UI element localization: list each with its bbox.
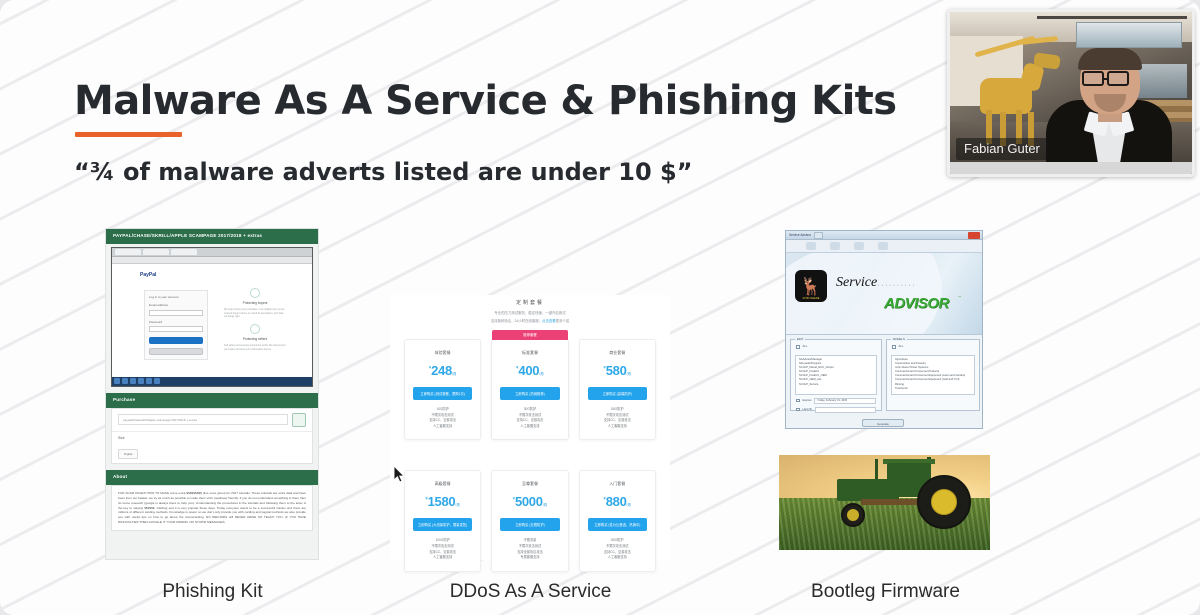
figure-ddos-pricing-screenshot: 定制套餐 专业的压力测试服务，稳定快速，一键开启测试 支持各种协议，24小时在线… <box>390 295 670 560</box>
taskbar-icon <box>138 378 144 384</box>
feature-item: 人工客服支持 <box>411 555 474 561</box>
presentation-slide: Malware As A Service & Phishing Kits “¾ … <box>0 0 1200 615</box>
more-info-link[interactable]: 点击查看 <box>542 319 556 323</box>
title-accent-bar <box>75 132 182 137</box>
phishing-page-browser-screenshot: PayPal Log in to your account Email addr… <box>111 247 313 387</box>
list-item[interactable]: SCULP_Service <box>799 383 873 387</box>
tractor-hood <box>837 479 899 501</box>
pricing-card[interactable]: 入门套餐 ¥880/月 立即购买 (性价比首选，热销中) 80G防护 不限次攻击… <box>579 470 656 571</box>
browser-tab <box>171 249 197 255</box>
banner-dots-decoration: • • • • • • • • • • <box>878 283 915 287</box>
windows-taskbar <box>112 377 312 386</box>
hard-id-row[interactable]: Hard ID <box>796 407 881 413</box>
paypal-logo: PayPal <box>140 272 156 280</box>
figure-service-advisor-screenshot: Service Advisor 🦌 JOHN DEERE Service • •… <box>785 230 983 429</box>
expires-label: Expires <box>803 399 812 402</box>
subheading-text-tail: 更多介绍 <box>556 319 570 323</box>
edit-fieldset: EDIT ALL SAAdvisorManager SALoaderProgra… <box>790 339 882 411</box>
feature-item: 人工客服支持 <box>498 424 561 430</box>
expires-date-field[interactable]: Friday, February 13, 2015 <box>814 398 876 404</box>
pricing-card[interactable]: 高级套餐 ¥1580/月 立即购买 (大流量防护，限量发售) 100G防护 不限… <box>404 470 481 571</box>
taskbar-icon <box>114 378 120 384</box>
shield-icon <box>250 288 260 298</box>
about-description: FUD SCAM PAGES HOW TO MAKE some extra $$… <box>111 485 313 530</box>
purchase-panel: paypal/chase/skrill/apple scampage 2017/… <box>111 408 313 465</box>
tractor-axle <box>861 499 923 505</box>
size-label: Size <box>118 436 306 441</box>
protect-sellers-body: Sell safely and securely around the worl… <box>224 344 286 352</box>
price-value: 400 <box>518 363 539 378</box>
login-heading: Log in to your account <box>149 295 207 300</box>
purchase-section-header: Purchase <box>106 393 318 408</box>
window-titlebar: Service Advisor <box>786 231 982 240</box>
email-label: Email address <box>149 303 207 308</box>
models-fieldset: MODELS ALL Agriculture Construction and … <box>886 339 980 411</box>
plan-price: ¥880/月 <box>586 493 649 511</box>
price-unit: /月 <box>455 503 460 507</box>
plan-name: 商业套餐 <box>586 350 649 356</box>
plan-price: ¥580/月 <box>586 362 649 380</box>
person-hair <box>1078 48 1142 70</box>
price-unit: /月 <box>627 372 632 376</box>
purchase-item-name: paypal/chase/skrill/apple scampage 2017/… <box>118 414 288 425</box>
toolbar-icon[interactable] <box>854 242 864 250</box>
caption-phishing-kit: Phishing Kit <box>90 581 335 603</box>
lock-icon <box>250 324 260 334</box>
price-value: 580 <box>606 363 627 378</box>
tractor-rear-hub <box>931 489 957 515</box>
plan-features: 50G防护 不限次攻击测试 支持CC、空载攻击 人工客服支持 <box>586 407 649 429</box>
password-label: Password <box>149 320 207 325</box>
signup-button[interactable] <box>149 348 203 355</box>
browser-chrome <box>112 248 312 257</box>
price-value: 5000 <box>515 494 543 509</box>
feature-item: 人工客服支持 <box>586 555 649 561</box>
close-button[interactable] <box>968 232 980 239</box>
edit-module-list[interactable]: SAAdvisorManager SALoaderProgram SCULP_D… <box>795 355 877 395</box>
protect-sellers-heading: Protecting sellers <box>224 337 286 342</box>
taskbar-icon <box>130 378 136 384</box>
password-field[interactable] <box>149 326 203 332</box>
pricing-header: 定制套餐 专业的压力测试服务，稳定快速，一键开启测试 支持各种协议，24小时在线… <box>390 295 670 323</box>
buy-button[interactable]: 立即购买 (大流量防护，限量发售) <box>413 518 472 531</box>
price-unit: /月 <box>539 372 544 376</box>
caption-bootleg-firmware: Bootleg Firmware <box>758 581 1013 603</box>
price-value: 880 <box>606 494 627 509</box>
plan-name: 高级套餐 <box>411 481 474 487</box>
john-deere-logo: 🦌 JOHN DEERE <box>795 270 827 302</box>
select-all-right[interactable]: ALL <box>892 345 979 349</box>
list-item[interactable]: Tractorech <box>895 387 971 391</box>
price-unit: /月 <box>452 372 457 376</box>
feature-item: 专属客服支持 <box>498 555 561 561</box>
license-generator-form: EDIT ALL SAAdvisorManager SALoaderProgra… <box>786 335 982 429</box>
glass-wall <box>1076 22 1182 48</box>
page-title: Malware As A Service & Phishing Kits <box>74 78 896 124</box>
pricing-row-2: 高级套餐 ¥1580/月 立即购买 (大流量防护，限量发售) 100G防护 不限… <box>390 460 670 571</box>
tractor-front-hub <box>847 509 859 521</box>
browser-tab <box>143 249 169 255</box>
plan-price: ¥1580/月 <box>411 493 474 511</box>
eyeglasses-right-lens <box>1107 71 1129 86</box>
plan-features: 80G防护 不限次攻击测试 支持CC、空载攻击 人工客服支持 <box>586 538 649 560</box>
login-button[interactable] <box>149 337 203 344</box>
select-all-label: ALL <box>803 345 808 348</box>
models-list[interactable]: Agriculture Construction and Forestry Jo… <box>891 355 975 395</box>
plan-name: 标准套餐 <box>498 350 561 356</box>
purchase-row: paypal/chase/skrill/apple scampage 2017/… <box>112 409 312 431</box>
trademark-symbol: ™ <box>958 295 961 299</box>
buy-button[interactable]: 立即购买 (高端防护) <box>588 387 647 400</box>
select-all-label: ALL <box>899 345 904 348</box>
protection-info: Protecting buyers We help protect your p… <box>224 288 286 352</box>
webcam-video-tile[interactable]: Fabian Guter <box>947 9 1195 177</box>
login-card: Log in to your account Email address Pas… <box>144 290 208 360</box>
plan-features: 30G防护 不限次攻击测试 支持CC、空载攻击 人工客服支持 <box>498 407 561 429</box>
participant-name-label: Fabian Guter <box>956 138 1048 160</box>
plan-name: 体验套餐 <box>411 350 474 356</box>
plan-price: ¥248/月 <box>411 362 474 380</box>
size-value[interactable]: Digital <box>118 449 138 460</box>
feature-item: 人工客服支持 <box>411 424 474 430</box>
hard-id-label: Hard ID <box>803 408 812 411</box>
cart-icon[interactable] <box>292 413 306 427</box>
browser-tab <box>115 249 141 255</box>
checkbox-icon[interactable] <box>892 345 896 349</box>
toolbar <box>786 240 982 253</box>
models-group-label: MODELS <box>891 337 907 341</box>
size-value-row: Digital <box>112 445 312 464</box>
eyeglasses-bridge <box>1103 78 1109 80</box>
buy-button[interactable]: 立即购买 (热销推荐) <box>500 387 559 400</box>
video-background-scene: Fabian Guter <box>950 12 1192 174</box>
video-bottom-bar <box>950 162 1192 174</box>
figure-phishing-kit-screenshot: PAYPAL/CHASE/SKRILL/APPLE SCAMPAGE 2017/… <box>105 228 319 560</box>
checkbox-icon[interactable] <box>796 408 800 412</box>
plan-price: ¥400/月 <box>498 362 561 380</box>
price-value: 248 <box>431 363 452 378</box>
toolbar-icon[interactable] <box>806 242 816 250</box>
phishing-page-body: PayPal Log in to your account Email addr… <box>112 264 312 377</box>
caption-ddos-as-a-service: DDoS As A Service <box>408 581 653 603</box>
listing-title: PAYPAL/CHASE/SKRILL/APPLE SCAMPAGE 2017/… <box>106 229 318 244</box>
subheading-text: 支持各种协议，24小时在线客服， <box>491 319 542 323</box>
generate-button[interactable]: Generate <box>862 419 904 427</box>
checkbox-icon[interactable] <box>796 399 800 403</box>
pricing-card[interactable]: 体验套餐 ¥248/月 立即购买 (测试套餐，限购1次) 10G防护 不限次攻击… <box>404 339 481 440</box>
hard-id-field[interactable] <box>815 407 876 413</box>
email-field[interactable] <box>149 310 203 316</box>
browser-address-bar <box>112 257 312 264</box>
pricing-card[interactable]: 商业套餐 ¥580/月 立即购买 (高端防护) 50G防护 不限次攻击测试 支持… <box>579 339 656 440</box>
pricing-card[interactable]: 至尊套餐 ¥5000/月 立即购买 (无限防护) 不限流量 不限次攻击测试 支持… <box>491 470 568 571</box>
checkbox-icon[interactable] <box>796 345 800 349</box>
deer-icon: 🦌 <box>800 278 821 295</box>
eyeglasses-left-lens <box>1082 71 1104 86</box>
protect-buyers-heading: Protecting buyers <box>224 301 286 306</box>
buy-button[interactable]: 立即购买 (性价比首选，热销中) <box>588 518 647 531</box>
brand-advisor-text: ADVISOR <box>884 295 949 312</box>
plan-name: 至尊套餐 <box>498 481 561 487</box>
buy-button[interactable]: 立即购买 (测试套餐，限购1次) <box>413 387 472 400</box>
pricing-card-featured[interactable]: 推荐套餐 标准套餐 ¥400/月 立即购买 (热销推荐) 30G防护 不限次攻击… <box>491 339 568 440</box>
plan-price: ¥5000/月 <box>498 493 561 511</box>
service-advisor-banner: 🦌 JOHN DEERE Service • • • • • • • • • •… <box>786 253 982 335</box>
pricing-row-1: 体验套餐 ¥248/月 立即购买 (测试套餐，限购1次) 10G防护 不限次攻击… <box>390 329 670 440</box>
taskbar-icon <box>122 378 128 384</box>
mouse-cursor <box>394 466 406 484</box>
taskbar-icon <box>154 378 160 384</box>
edit-group-label: EDIT <box>795 337 805 341</box>
expires-row[interactable]: Expires Friday, February 13, 2015 <box>796 398 881 404</box>
plan-features: 不限流量 不限次攻击测试 支持全部协议攻击 专属客服支持 <box>498 538 561 560</box>
minimize-button[interactable] <box>814 232 823 239</box>
john-deere-wordmark: JOHN DEERE <box>795 297 827 300</box>
toolbar-icon[interactable] <box>830 242 840 250</box>
taskbar-icon <box>146 378 152 384</box>
slide-subtitle: “¾ of malware adverts listed are under 1… <box>74 158 693 186</box>
price-unit: /月 <box>543 503 548 507</box>
price-unit: /月 <box>627 503 632 507</box>
pricing-subheading-1: 专业的压力测试服务，稳定快速，一键开启测试 <box>390 310 670 315</box>
pricing-heading: 定制套餐 <box>390 299 670 306</box>
about-section-header: About <box>106 470 318 485</box>
pricing-subheading-2: 支持各种协议，24小时在线客服，点击查看更多介绍 <box>390 318 670 323</box>
railing <box>1037 16 1187 19</box>
price-value: 1580 <box>428 494 456 509</box>
plan-features: 10G防护 不限次攻击测试 支持CC、空载攻击 人工客服支持 <box>411 407 474 429</box>
brand-service-text: Service <box>836 275 877 291</box>
window-title: Service Advisor <box>789 233 811 237</box>
protect-buyers-body: We help protect your purchases. If an el… <box>224 308 286 320</box>
tractor-photo <box>779 455 990 550</box>
plan-name: 入门套餐 <box>586 481 649 487</box>
select-all-left[interactable]: ALL <box>796 345 881 349</box>
feature-item: 人工客服支持 <box>586 424 649 430</box>
buy-button[interactable]: 立即购买 (无限防护) <box>500 518 559 531</box>
plan-features: 100G防护 不限次攻击测试 支持CC、空载攻击 人工客服支持 <box>411 538 474 560</box>
size-row: Size <box>112 432 312 445</box>
toolbar-icon[interactable] <box>878 242 888 250</box>
recommended-badge: 推荐套餐 <box>492 330 567 340</box>
